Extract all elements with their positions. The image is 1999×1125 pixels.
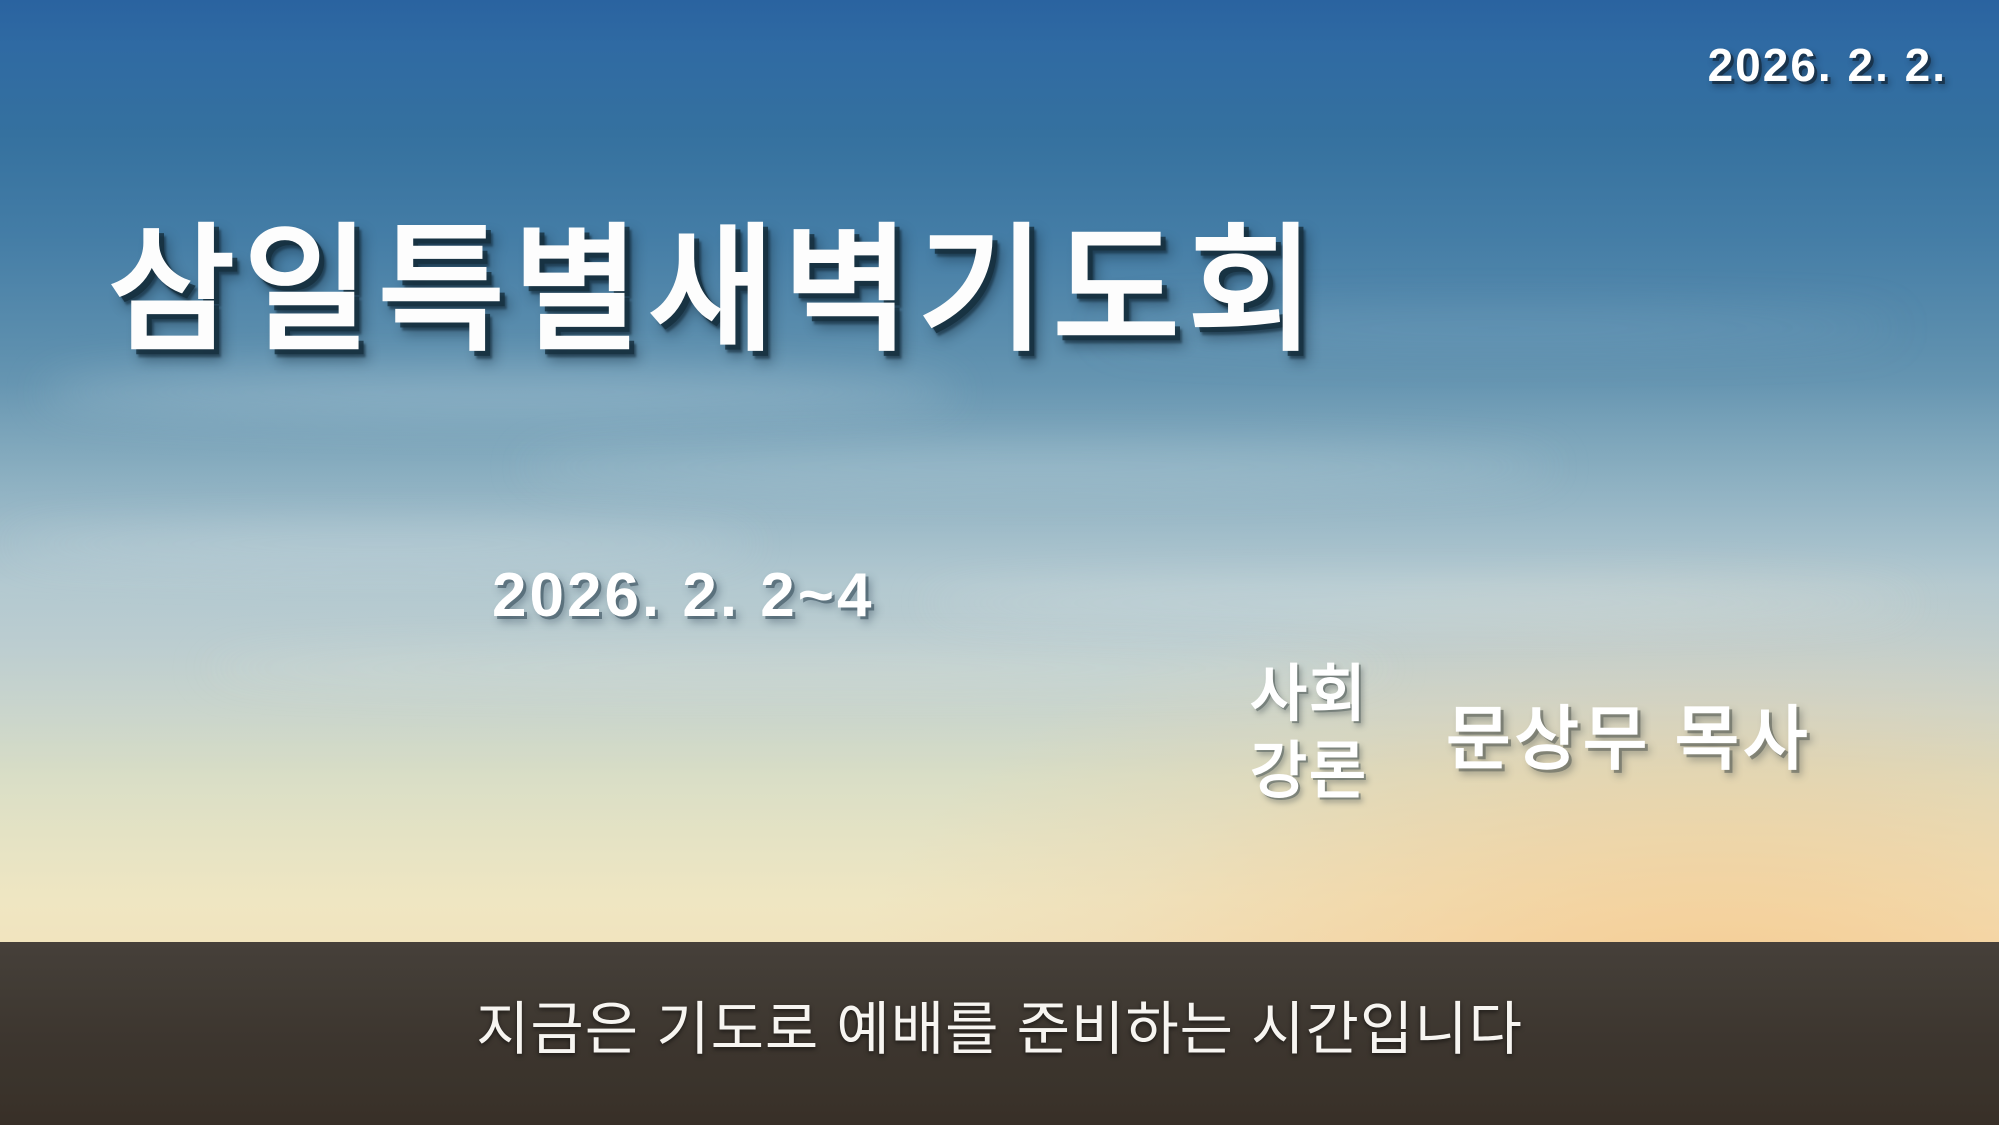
caption-text: 지금은 기도로 예배를 준비하는 시간입니다 xyxy=(476,982,1523,1066)
slide-canvas: 2026. 2. 2. 삼일특별새벽기도회 2026. 2. 2~4 사회 강론… xyxy=(0,0,1999,1125)
role-label-presider: 사회 xyxy=(1250,660,1368,729)
speaker-name: 문상무 목사 xyxy=(1446,683,1811,784)
service-date-range: 2026. 2. 2~4 xyxy=(492,560,874,631)
role-labels: 사회 강론 xyxy=(1250,660,1368,807)
role-label-preacher: 강론 xyxy=(1250,737,1368,806)
service-date: 2026. 2. 2. xyxy=(1708,38,1947,92)
credits-block: 사회 강론 문상무 목사 xyxy=(1250,660,1812,807)
page-title: 삼일특별새벽기도회 xyxy=(108,222,1323,360)
caption-bar: 지금은 기도로 예배를 준비하는 시간입니다 xyxy=(0,942,1999,1125)
